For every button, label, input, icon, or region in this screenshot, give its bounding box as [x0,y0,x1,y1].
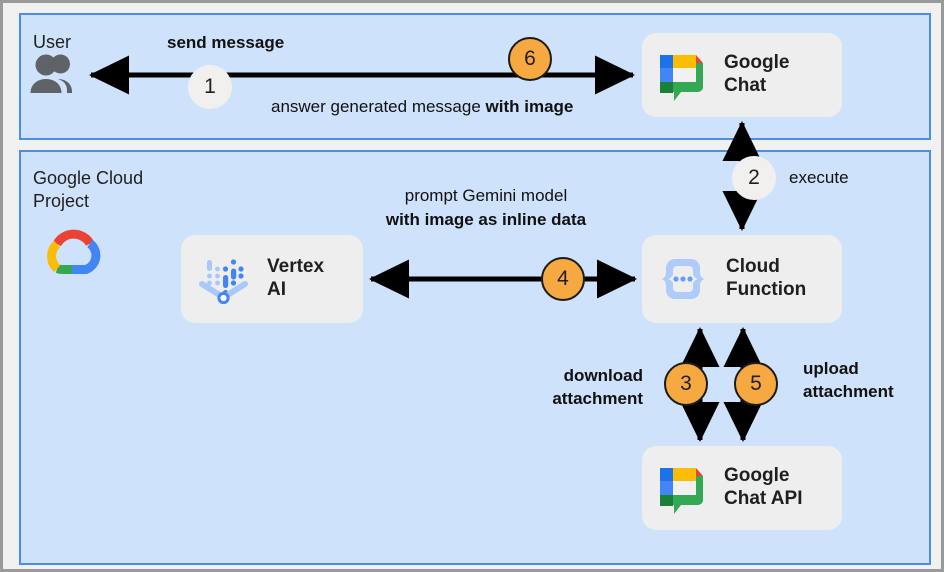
google-chat-icon [654,47,710,103]
label-prompt-gemini-bold: with image as inline data [351,209,621,232]
label-answer-bold: with image [486,97,574,116]
node-cloud-function-label: Cloud Function [726,256,806,302]
panel-user-title: User [33,31,71,54]
panel-google-cloud-project-title: Google Cloud Project [33,167,143,213]
label-answer-generated-message: answer generated message with image [271,96,573,119]
node-vertex-ai-label: Vertex AI [267,256,324,302]
people-icon [27,53,79,97]
label-prompt-gemini-regular: prompt Gemini model [351,185,621,208]
step-badge-2: 2 [732,156,776,200]
node-vertex-ai[interactable]: Vertex AI [181,235,363,323]
step-badge-6: 6 [508,37,552,81]
diagram-canvas: User Google Cloud Project [0,0,944,572]
google-chat-icon [654,460,710,516]
node-cloud-function[interactable]: Cloud Function [642,235,842,323]
node-google-chat-api-label: Google Chat API [724,465,802,511]
label-execute: execute [789,167,849,190]
cloud-function-icon [654,250,712,308]
vertex-ai-icon [195,250,253,308]
node-google-chat-api[interactable]: Google Chat API [642,446,842,530]
label-download-attachment: download attachment [463,365,643,411]
step-badge-3: 3 [664,362,708,406]
label-send-message: send message [167,32,284,55]
label-answer-regular: answer generated message [271,97,486,116]
google-cloud-icon [41,221,107,277]
label-upload-attachment: upload attachment [803,358,894,404]
node-google-chat-label: Google Chat [724,52,789,98]
step-badge-1: 1 [188,65,232,109]
step-badge-4: 4 [541,257,585,301]
node-google-chat[interactable]: Google Chat [642,33,842,117]
step-badge-5: 5 [734,362,778,406]
